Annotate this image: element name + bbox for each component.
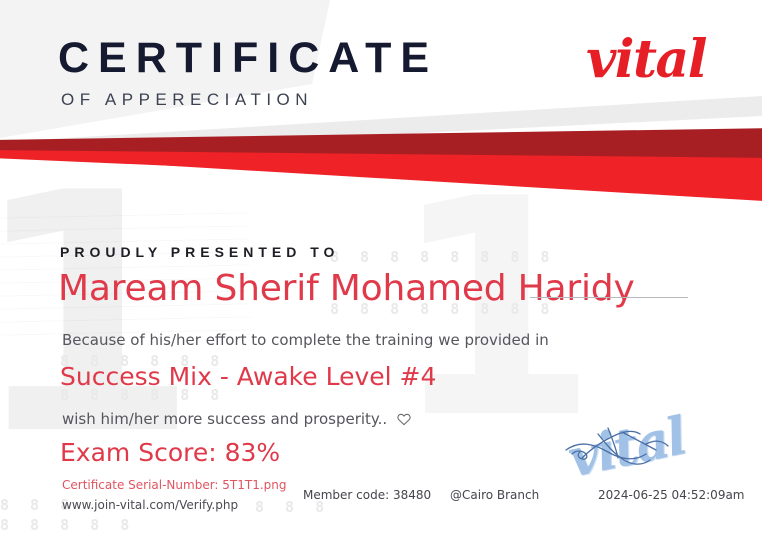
- certificate-title: CERTIFICATE: [58, 36, 438, 81]
- verification-stamp: vital: [560, 414, 725, 492]
- background-watermark-ticks-1: 8 8 8 8 8 8 8 8: [330, 248, 555, 266]
- background-watermark-ticks-6: 8 8 8 8 8: [0, 516, 135, 534]
- recipient-name: Maream Sherif Mohamed Haridy: [58, 268, 635, 309]
- red-banner-bright-layer: [0, 128, 762, 218]
- member-code: Member code: 38480: [303, 488, 431, 502]
- wish-text-row: wish him/her more success and prosperity…: [62, 410, 412, 428]
- handwritten-signature-icon: [560, 414, 725, 492]
- reason-text: Because of his/her effort to complete th…: [62, 331, 549, 349]
- background-watermark-glyph: 1: [0, 150, 210, 480]
- issue-timestamp: 2024-06-25 04:52:09am: [598, 488, 745, 502]
- certificate-header: CERTIFICATE OF APPERECIATION: [58, 36, 438, 110]
- certificate-serial-number: Certificate Serial-Number: 5T1T1.png: [62, 478, 287, 492]
- certificate-subtitle: OF APPERECIATION: [61, 90, 438, 110]
- red-banner-bright-layer-2: [0, 128, 762, 228]
- branch-name: @Cairo Branch: [450, 488, 539, 502]
- verify-url[interactable]: www.join-vital.com/Verify.php: [62, 498, 238, 512]
- proudly-presented-label: PROUDLY PRESENTED TO: [60, 244, 339, 260]
- wish-text: wish him/her more success and prosperity…: [62, 410, 387, 428]
- vital-brand-logo: vital: [586, 34, 706, 86]
- recipient-name-rule: [530, 297, 688, 298]
- red-banner-dark-layer: [0, 128, 762, 208]
- certificate-document: 1 1 8 8 8 8 8 8 8 8 8 8 8 8 8 8 8 8 8 8 …: [0, 0, 762, 539]
- exam-score: Exam Score: 83%: [60, 438, 280, 467]
- course-name: Success Mix - Awake Level #4: [60, 362, 436, 391]
- heart-outline-icon: [396, 411, 412, 427]
